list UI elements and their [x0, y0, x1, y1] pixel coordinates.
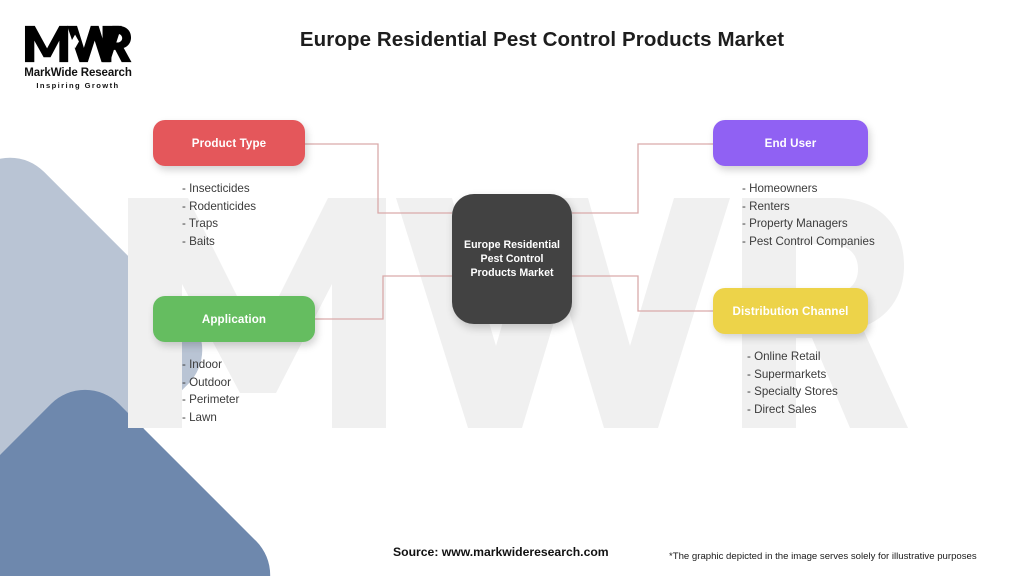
center-node-label: Europe Residential Pest Control Products…: [464, 238, 560, 280]
branch-title-distribution-channel: Distribution Channel: [732, 305, 848, 318]
branch-items-application: - Indoor - Outdoor - Perimeter - Lawn: [153, 356, 453, 427]
branch-items-product-type: - Insecticides - Rodenticides - Traps - …: [153, 180, 453, 251]
list-item: - Indoor: [182, 356, 453, 374]
branch-distribution-channel[interactable]: Distribution Channel - Online Retail - S…: [713, 288, 1013, 419]
list-item: - Baits: [182, 233, 453, 251]
list-item: - Online Retail: [747, 348, 1013, 366]
list-item: - Insecticides: [182, 180, 453, 198]
branch-application[interactable]: Application - Indoor - Outdoor - Perimet…: [153, 296, 453, 427]
branch-box-application[interactable]: Application: [153, 296, 315, 342]
list-item: - Specialty Stores: [747, 383, 1013, 401]
list-item: - Direct Sales: [747, 401, 1013, 419]
branch-items-end-user: - Homeowners - Renters - Property Manage…: [713, 180, 1013, 251]
list-item: - Homeowners: [742, 180, 1013, 198]
list-item: - Pest Control Companies: [742, 233, 1013, 251]
branch-end-user[interactable]: End User - Homeowners - Renters - Proper…: [713, 120, 1013, 251]
branch-items-distribution-channel: - Online Retail - Supermarkets - Special…: [713, 348, 1013, 419]
branch-title-application: Application: [202, 313, 266, 326]
center-node: Europe Residential Pest Control Products…: [452, 194, 572, 324]
branch-title-end-user: End User: [765, 137, 817, 150]
branch-box-distribution-channel[interactable]: Distribution Channel: [713, 288, 868, 334]
footer-source: Source: www.markwideresearch.com: [393, 545, 609, 559]
footer-disclaimer: *The graphic depicted in the image serve…: [669, 551, 977, 562]
infographic-canvas: MarkWide Research Inspiring Growth Europ…: [0, 0, 1024, 576]
list-item: - Outdoor: [182, 374, 453, 392]
list-item: - Supermarkets: [747, 366, 1013, 384]
branch-title-product-type: Product Type: [192, 137, 266, 150]
list-item: - Renters: [742, 198, 1013, 216]
branch-box-end-user[interactable]: End User: [713, 120, 868, 166]
list-item: - Rodenticides: [182, 198, 453, 216]
list-item: - Traps: [182, 215, 453, 233]
list-item: - Lawn: [182, 409, 453, 427]
branch-product-type[interactable]: Product Type - Insecticides - Rodenticid…: [153, 120, 453, 251]
list-item: - Property Managers: [742, 215, 1013, 233]
list-item: - Perimeter: [182, 391, 453, 409]
branch-box-product-type[interactable]: Product Type: [153, 120, 305, 166]
